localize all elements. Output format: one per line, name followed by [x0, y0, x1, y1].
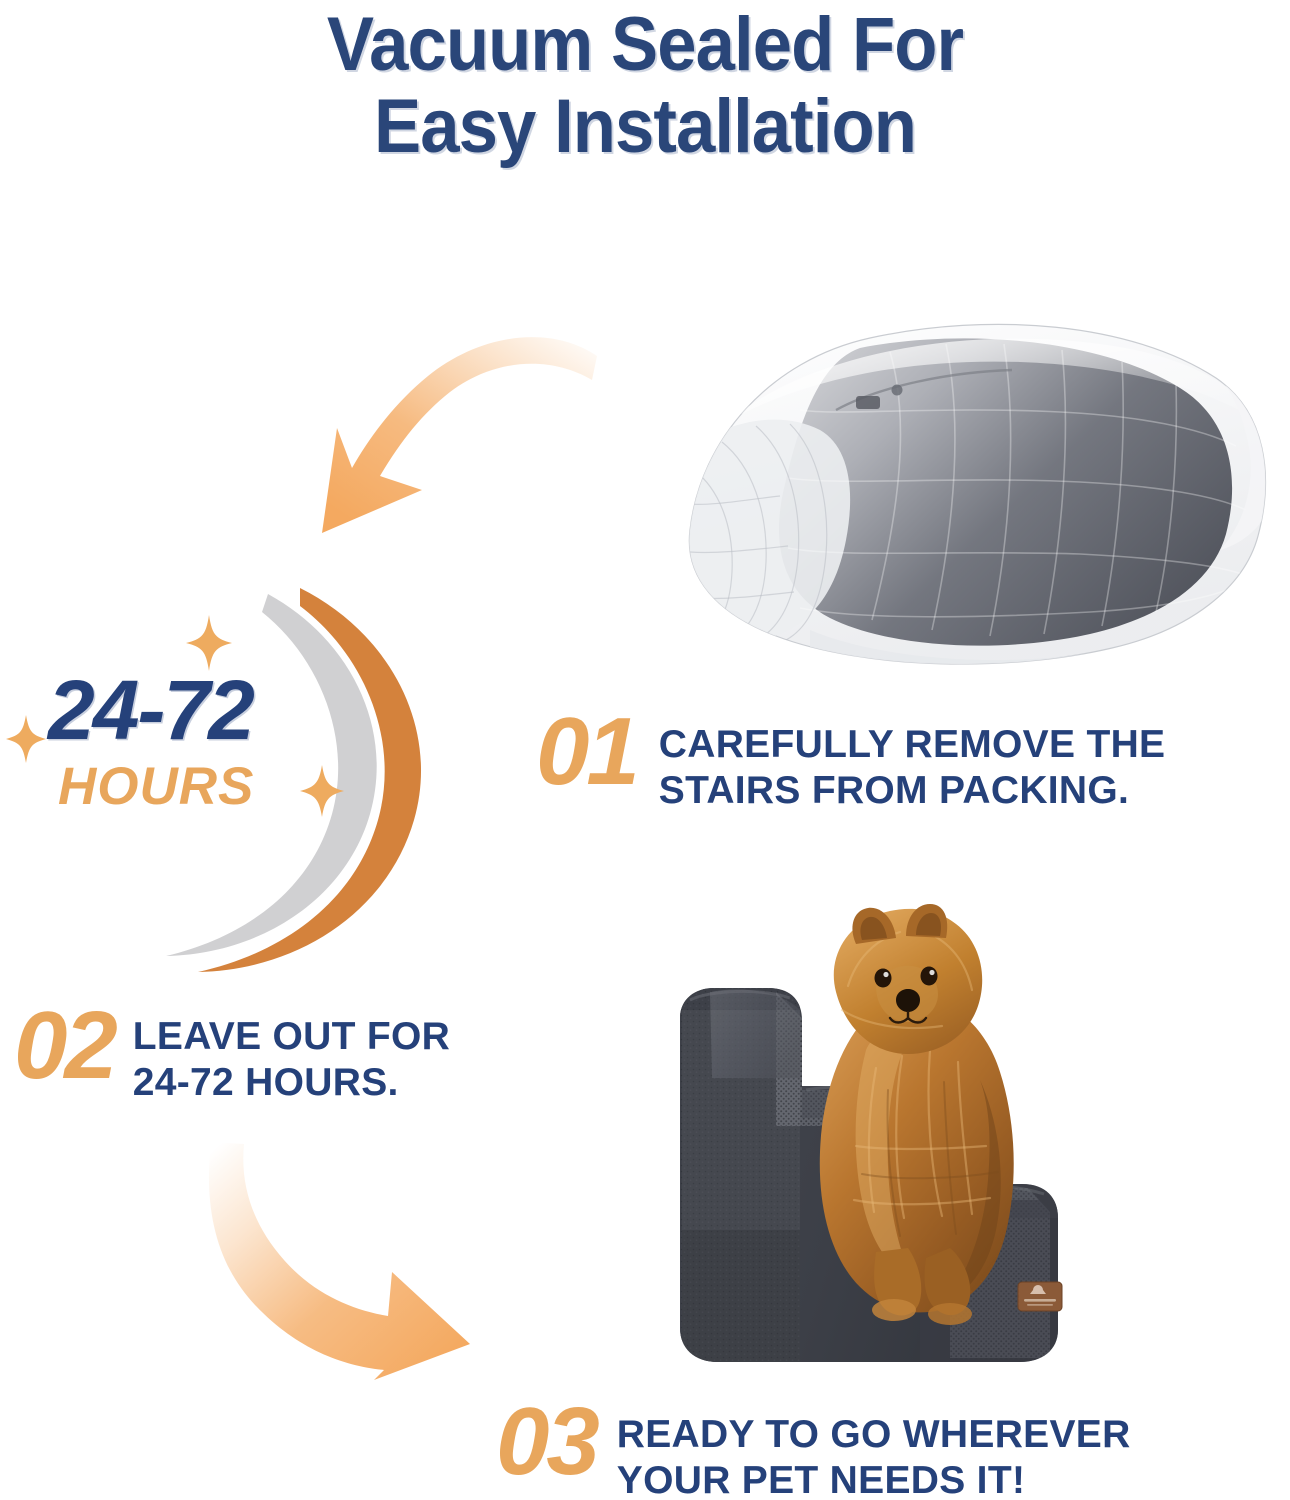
brand-logo-patch [1018, 1282, 1062, 1311]
step-01-number: 01 [536, 706, 637, 798]
hours-badge: 24-72 HOURS [0, 580, 470, 980]
step-01-row: 01 CAREFULLY REMOVE THE STAIRS FROM PACK… [536, 706, 1165, 814]
step-02-number: 02 [14, 1000, 115, 1092]
step-03-line-1: READY TO GO WHEREVER [617, 1413, 1131, 1456]
page-title: Vacuum Sealed For Easy Installation [0, 4, 1290, 168]
step-03-text: READY TO GO WHEREVER YOUR PET NEEDS IT! [617, 1396, 1131, 1500]
pet-stairs-with-dog-photo [650, 900, 1290, 1380]
badge-duration-unit: HOURS [58, 760, 254, 813]
curved-arrow-to-step-three [178, 1138, 518, 1393]
step-03-line-2: YOUR PET NEEDS IT! [617, 1458, 1131, 1500]
badge-duration-number: 24-72 [48, 668, 253, 752]
title-line-2: Easy Installation [45, 86, 1245, 168]
curved-arrow-to-step-two [300, 318, 600, 573]
step-01-text: CAREFULLY REMOVE THE STAIRS FROM PACKING… [659, 706, 1166, 814]
step-03-number: 03 [496, 1396, 597, 1488]
step-02-row: 02 LEAVE OUT FOR 24-72 HOURS. [14, 1000, 450, 1106]
sparkle-icon-left [6, 715, 46, 763]
infographic-page: Vacuum Sealed For Easy Installation [0, 0, 1290, 1500]
step-03-row: 03 READY TO GO WHEREVER YOUR PET NEEDS I… [496, 1396, 1131, 1500]
title-line-1: Vacuum Sealed For [45, 4, 1245, 86]
vacuum-sealed-package-photo [660, 300, 1290, 700]
pomeranian-dog [820, 904, 1014, 1325]
step-02-line-1: LEAVE OUT FOR [133, 1015, 450, 1058]
step-02-text: LEAVE OUT FOR 24-72 HOURS. [133, 1000, 450, 1106]
step-01-line-1: CAREFULLY REMOVE THE [659, 723, 1166, 766]
step-02-line-2: 24-72 HOURS. [133, 1060, 450, 1106]
step-01-line-2: STAIRS FROM PACKING. [659, 768, 1166, 814]
